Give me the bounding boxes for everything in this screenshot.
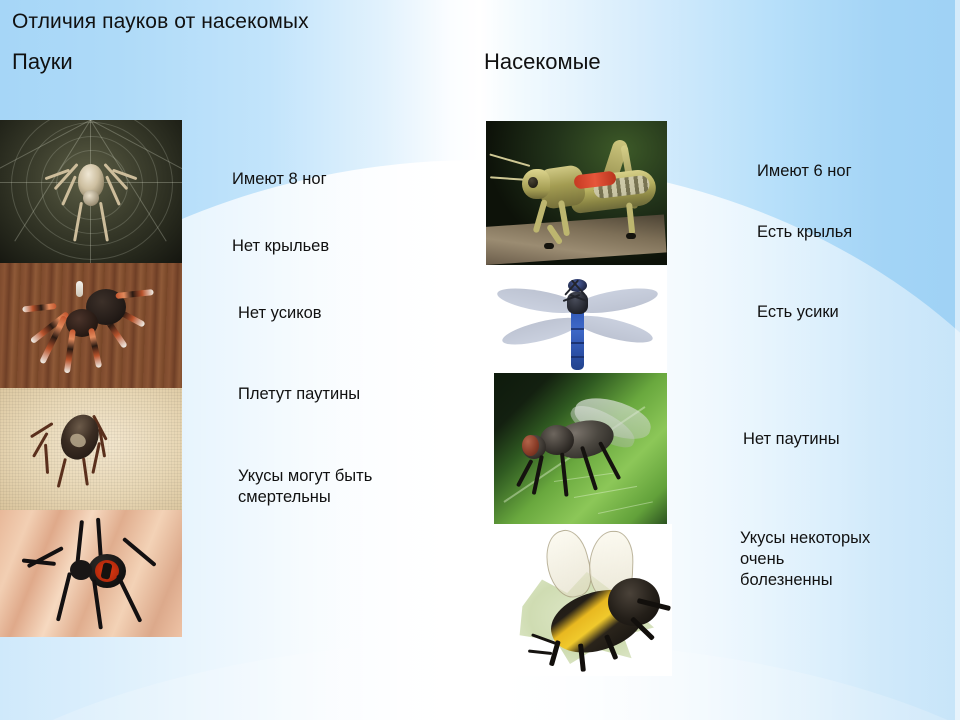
fact-insects-legs: Имеют 6 ног (757, 161, 852, 182)
fact-spiders-antennae: Нет усиков (238, 303, 322, 324)
fact-spiders-bites: Укусы могут быть смертельны (238, 466, 423, 508)
fact-insects-web: Нет паутины (743, 429, 840, 450)
image-orb-weaver-spider-on-web (0, 120, 182, 263)
image-bumblebee-illustration (490, 524, 672, 676)
image-black-widow-spider-on-finger (0, 510, 182, 637)
column-heading-insects: Насекомые (484, 49, 601, 75)
fact-insects-wings: Есть крылья (757, 222, 852, 243)
image-tarantula-on-wood (0, 263, 182, 388)
image-housefly-on-leaf (494, 373, 667, 524)
image-tick-on-fabric (0, 388, 182, 510)
fact-insects-bites: Укусы некоторых очень болезненны (740, 528, 875, 590)
image-grasshopper-on-branch (486, 121, 667, 265)
slide-canvas: Отличия пауков от насекомых Пауки Насеко… (0, 0, 960, 720)
fact-spiders-legs: Имеют 8 ног (232, 169, 327, 190)
column-heading-spiders: Пауки (12, 49, 73, 75)
fact-insects-antennae: Есть усики (757, 302, 839, 323)
image-dragonfly (485, 266, 667, 373)
page-title: Отличия пауков от насекомых (12, 10, 309, 34)
fact-spiders-web: Плетут паутины (238, 384, 360, 405)
fact-spiders-wings: Нет крыльев (232, 236, 329, 257)
